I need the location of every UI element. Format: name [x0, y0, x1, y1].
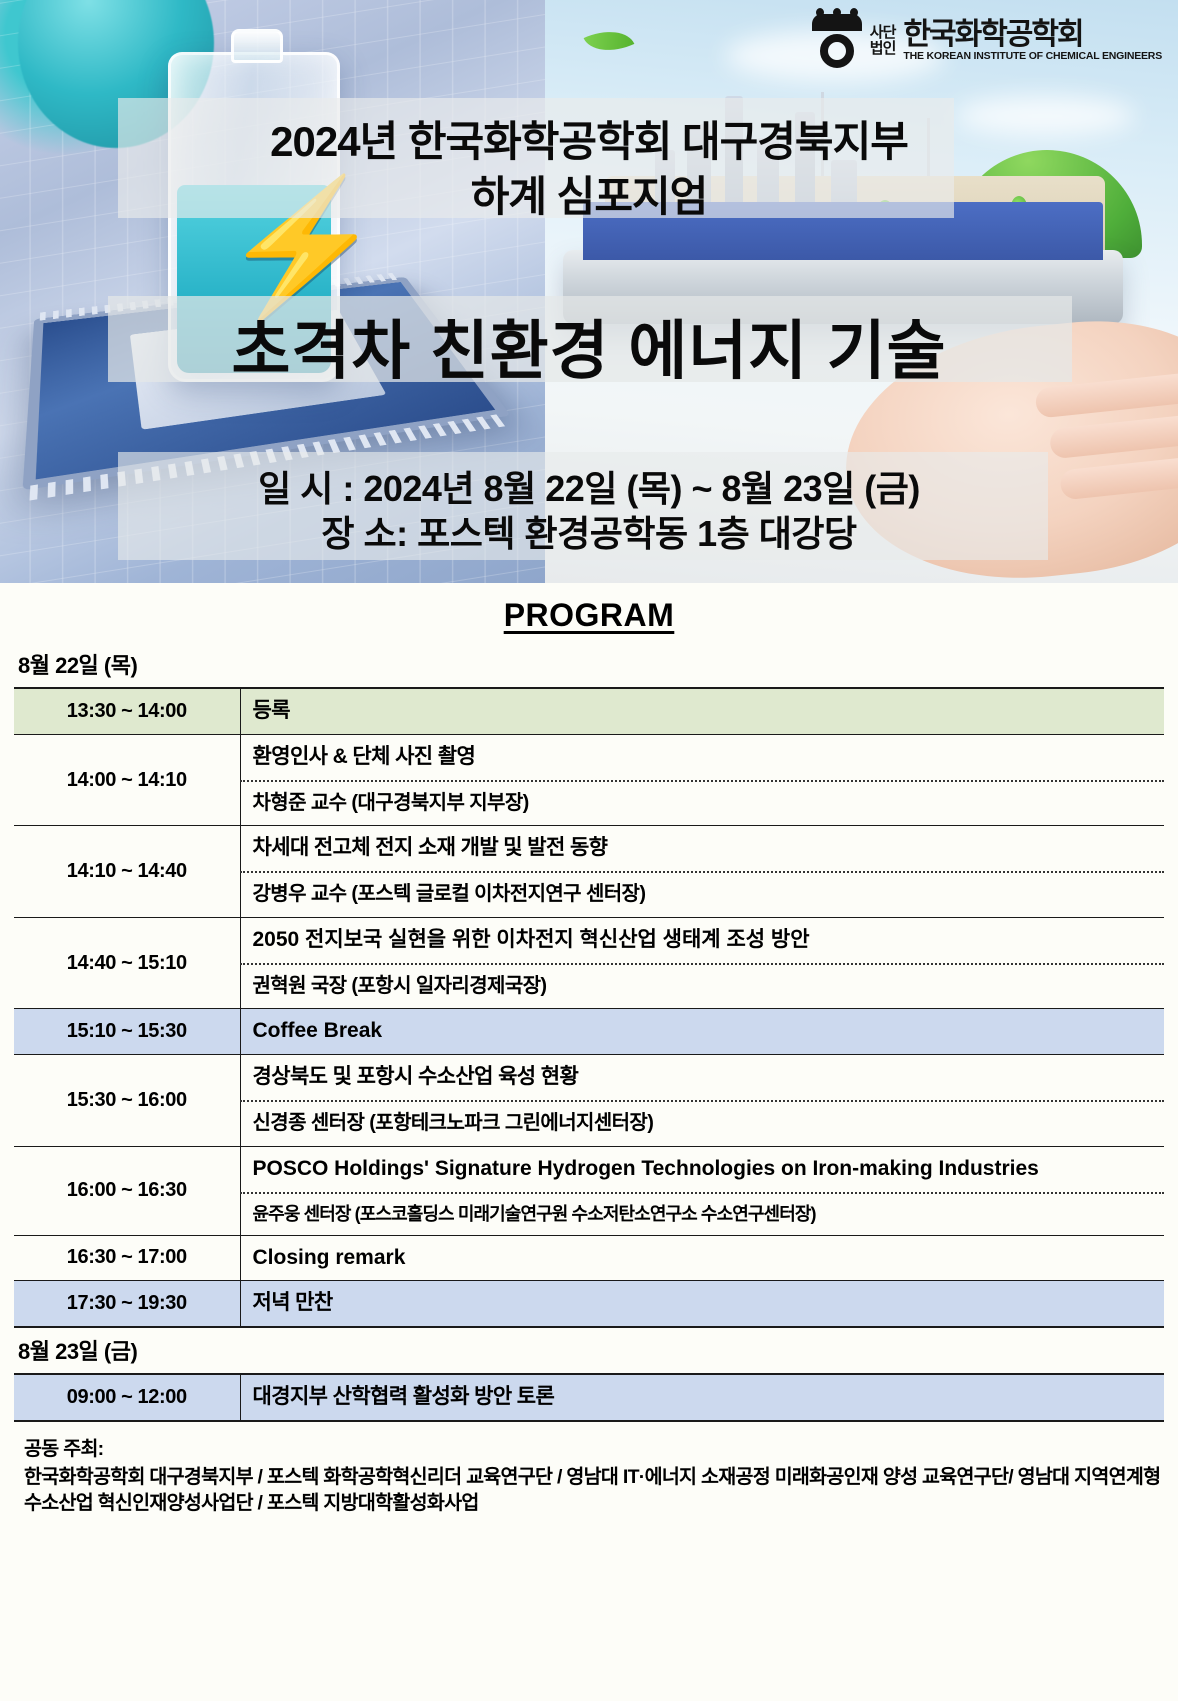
program-heading: PROGRAM	[14, 583, 1164, 642]
logo-name-kr: 한국화학공학회	[903, 20, 1162, 50]
footer-organizers: 공동 주최: 한국화학공학회 대구경북지부 / 포스텍 화학공학혁신리더 교육연…	[14, 1422, 1164, 1516]
footer-organizer-list: 한국화학공학회 대구경북지부 / 포스텍 화학공학혁신리더 교육연구단 / 영남…	[24, 1462, 1164, 1516]
table-row: 09:00 ~ 12:00대경지부 산학협력 활성화 방안 토론	[14, 1374, 1164, 1421]
table-row: 14:10 ~ 14:40차세대 전고체 전지 소재 개발 및 발전 동향	[14, 826, 1164, 872]
session-time: 13:30 ~ 14:00	[14, 688, 240, 734]
day-heading: 8월 23일 (금)	[14, 1328, 1164, 1373]
session-topic: 차세대 전고체 전지 소재 개발 및 발전 동향	[240, 826, 1164, 872]
poster-hero-banner: ⚡	[0, 0, 1178, 583]
logo-crown-icon	[812, 14, 862, 31]
logo-ring-icon	[820, 34, 854, 68]
session-speaker: 강병우 교수 (포스텍 글로컬 이차전지연구 센터장)	[240, 872, 1164, 917]
session-time: 14:00 ~ 14:10	[14, 734, 240, 825]
event-title-line2: 하계 심포지엄	[0, 163, 1178, 224]
table-row: 16:00 ~ 16:30POSCO Holdings' Signature H…	[14, 1146, 1164, 1192]
session-speaker: 윤주웅 센터장 (포스코홀딩스 미래기술연구원 수소저탄소연구소 수소연구센터장…	[240, 1193, 1164, 1236]
session-topic: 환영인사 & 단체 사진 촬영	[240, 734, 1164, 780]
session-topic: 2050 전지보국 실현을 위한 이차전지 혁신산업 생태계 조성 방안	[240, 917, 1164, 963]
finger	[1049, 412, 1178, 459]
session-topic: Closing remark	[240, 1235, 1164, 1281]
table-row: 16:30 ~ 17:00Closing remark	[14, 1235, 1164, 1281]
logo-name-block: 한국화학공학회 THE KOREAN INSTITUTE OF CHEMICAL…	[903, 20, 1162, 62]
table-row: 15:10 ~ 15:30Coffee Break	[14, 1009, 1164, 1055]
logo-name-en: THE KOREAN INSTITUTE OF CHEMICAL ENGINEE…	[903, 50, 1162, 62]
session-time: 14:40 ~ 15:10	[14, 917, 240, 1008]
battery-cap	[231, 29, 283, 63]
session-speaker: 신경종 센터장 (포항테크노파크 그린에너지센터장)	[240, 1101, 1164, 1146]
session-topic: Coffee Break	[240, 1009, 1164, 1055]
session-time: 15:30 ~ 16:00	[14, 1055, 240, 1146]
session-topic: 저녁 만찬	[240, 1281, 1164, 1327]
logo-mark-icon	[812, 14, 862, 68]
program-section: PROGRAM 8월 22일 (목)13:30 ~ 14:00등록14:00 ~…	[0, 583, 1178, 1517]
event-venue: 장 소: 포스텍 환경공학동 1층 대강당	[0, 505, 1178, 557]
session-time: 16:00 ~ 16:30	[14, 1146, 240, 1235]
leaf-icon	[584, 20, 635, 62]
table-row: 17:30 ~ 19:30저녁 만찬	[14, 1281, 1164, 1327]
session-speaker: 권혁원 국장 (포항시 일자리경제국장)	[240, 964, 1164, 1009]
session-topic: 대경지부 산학협력 활성화 방안 토론	[240, 1374, 1164, 1421]
table-row: 13:30 ~ 14:00등록	[14, 688, 1164, 734]
footer-label: 공동 주최:	[24, 1436, 1164, 1462]
table-row: 14:00 ~ 14:10환영인사 & 단체 사진 촬영	[14, 734, 1164, 780]
session-topic: POSCO Holdings' Signature Hydrogen Techn…	[240, 1146, 1164, 1192]
session-time: 09:00 ~ 12:00	[14, 1374, 240, 1421]
session-time: 15:10 ~ 15:30	[14, 1009, 240, 1055]
session-speaker: 차형준 교수 (대구경북지부 지부장)	[240, 781, 1164, 826]
logo-corp-line2: 법인	[870, 41, 896, 57]
program-days: 8월 22일 (목)13:30 ~ 14:00등록14:00 ~ 14:10환영…	[14, 642, 1164, 1422]
schedule-table: 09:00 ~ 12:00대경지부 산학협력 활성화 방안 토론	[14, 1373, 1164, 1422]
day-heading: 8월 22일 (목)	[14, 642, 1164, 687]
event-title-line1: 2024년 한국화학공학회 대구경북지부	[0, 108, 1178, 169]
session-topic: 등록	[240, 688, 1164, 734]
session-time: 14:10 ~ 14:40	[14, 826, 240, 917]
table-row: 14:40 ~ 15:102050 전지보국 실현을 위한 이차전지 혁신산업 …	[14, 917, 1164, 963]
event-main-theme: 초격차 친환경 에너지 기술	[0, 300, 1178, 392]
logo-corp-line1: 사단	[870, 25, 896, 41]
kiche-logo: 사단 법인 한국화학공학회 THE KOREAN INSTITUTE OF CH…	[812, 14, 1162, 68]
session-topic: 경상북도 및 포항시 수소산업 육성 현황	[240, 1055, 1164, 1101]
session-time: 17:30 ~ 19:30	[14, 1281, 240, 1327]
table-row: 15:30 ~ 16:00경상북도 및 포항시 수소산업 육성 현황	[14, 1055, 1164, 1101]
schedule-table: 13:30 ~ 14:00등록14:00 ~ 14:10환영인사 & 단체 사진…	[14, 687, 1164, 1328]
session-time: 16:30 ~ 17:00	[14, 1235, 240, 1281]
logo-corporate-label: 사단 법인	[870, 25, 896, 57]
